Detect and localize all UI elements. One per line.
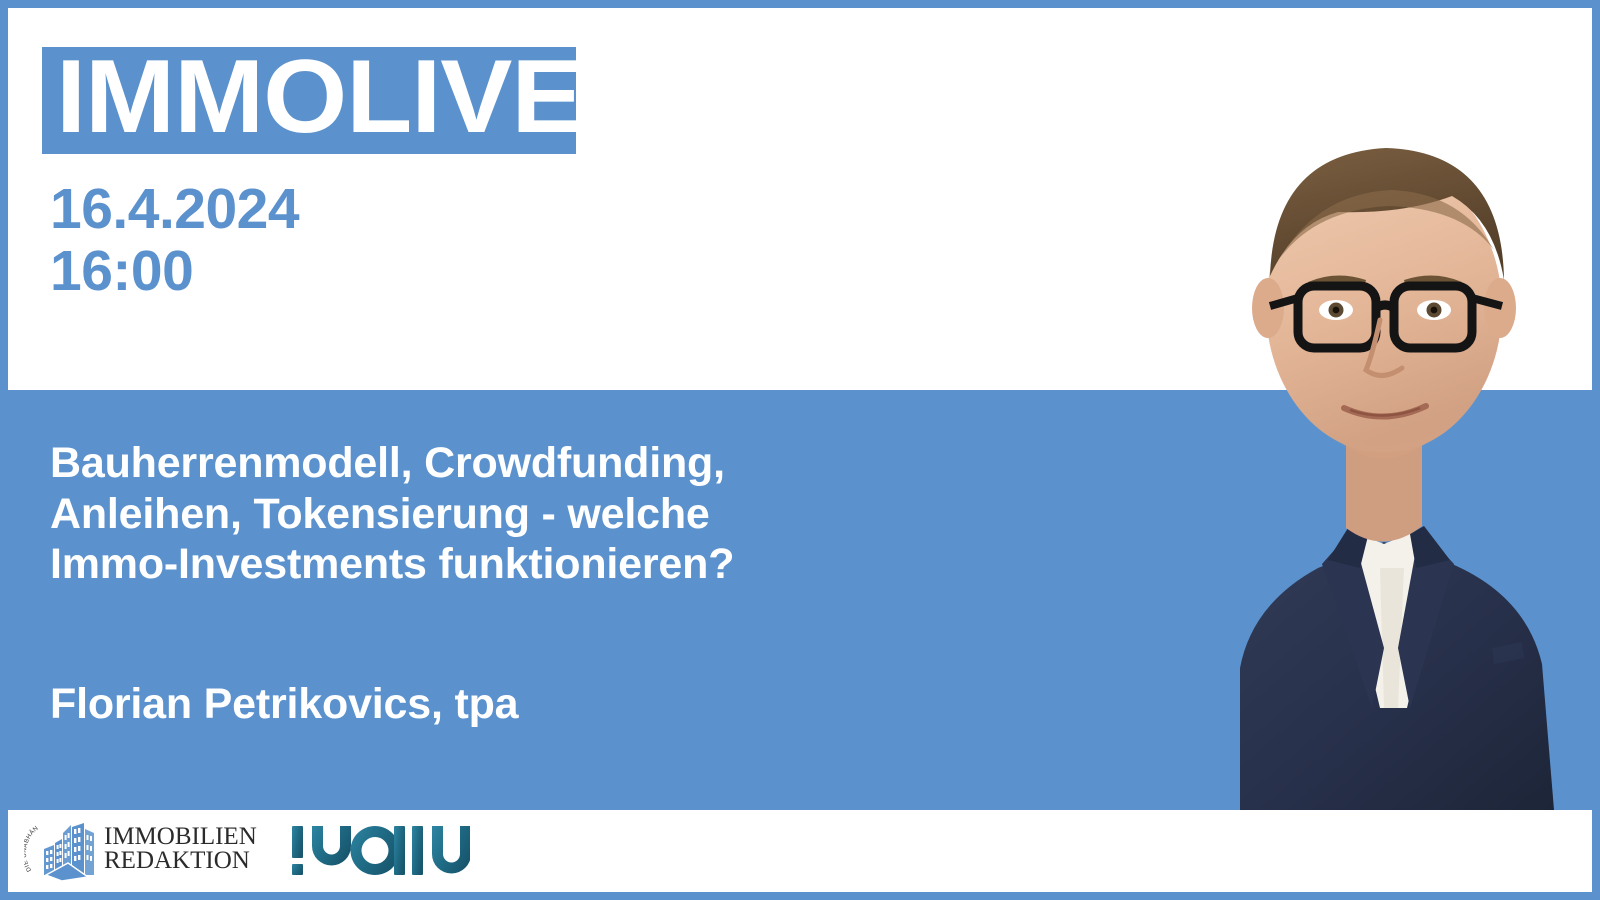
poster-root: IMMOLIVE 16.4.2024 16:00 Bauherrenmodell… — [0, 0, 1600, 900]
immobilien-arc-text: DIE UNABHÄNGIGE — [24, 815, 40, 873]
headline: Bauherrenmodell, Crowdfunding, Anleihen,… — [50, 438, 950, 590]
logo-ivalu — [290, 824, 470, 880]
event-datetime: 16.4.2024 16:00 — [50, 178, 299, 302]
speaker-name: Florian Petrikovics, tpa — [50, 680, 518, 729]
headline-line-3: Immo-Investments funktionieren? — [50, 539, 950, 590]
logo-immobilien-redaktion: DIE UNABHÄNGIGE — [24, 814, 259, 884]
footer-logos: DIE UNABHÄNGIGE — [8, 810, 1592, 892]
immolive-logo-box: IMMOLIVE — [42, 47, 576, 154]
event-time: 16:00 — [50, 240, 299, 302]
immobilien-line-2: REDAKTION — [104, 849, 257, 873]
headline-line-1: Bauherrenmodell, Crowdfunding, — [50, 438, 950, 489]
headline-line-2: Anleihen, Tokensierung - welche — [50, 489, 950, 540]
immobilien-wordmark: IMMOBILIEN REDAKTION — [104, 825, 257, 873]
svg-text:DIE UNABHÄNGIGE: DIE UNABHÄNGIGE — [24, 815, 40, 873]
ivalu-glyphs — [292, 826, 470, 875]
poster-inner: IMMOLIVE 16.4.2024 16:00 Bauherrenmodell… — [8, 8, 1592, 892]
event-date: 16.4.2024 — [50, 178, 299, 240]
immolive-wordmark: IMMOLIVE — [56, 53, 582, 142]
immobilien-line-1: IMMOBILIEN — [104, 825, 257, 849]
speaker-portrait — [1122, 8, 1592, 810]
immobilien-building-icon: DIE UNABHÄNGIGE — [24, 815, 102, 883]
